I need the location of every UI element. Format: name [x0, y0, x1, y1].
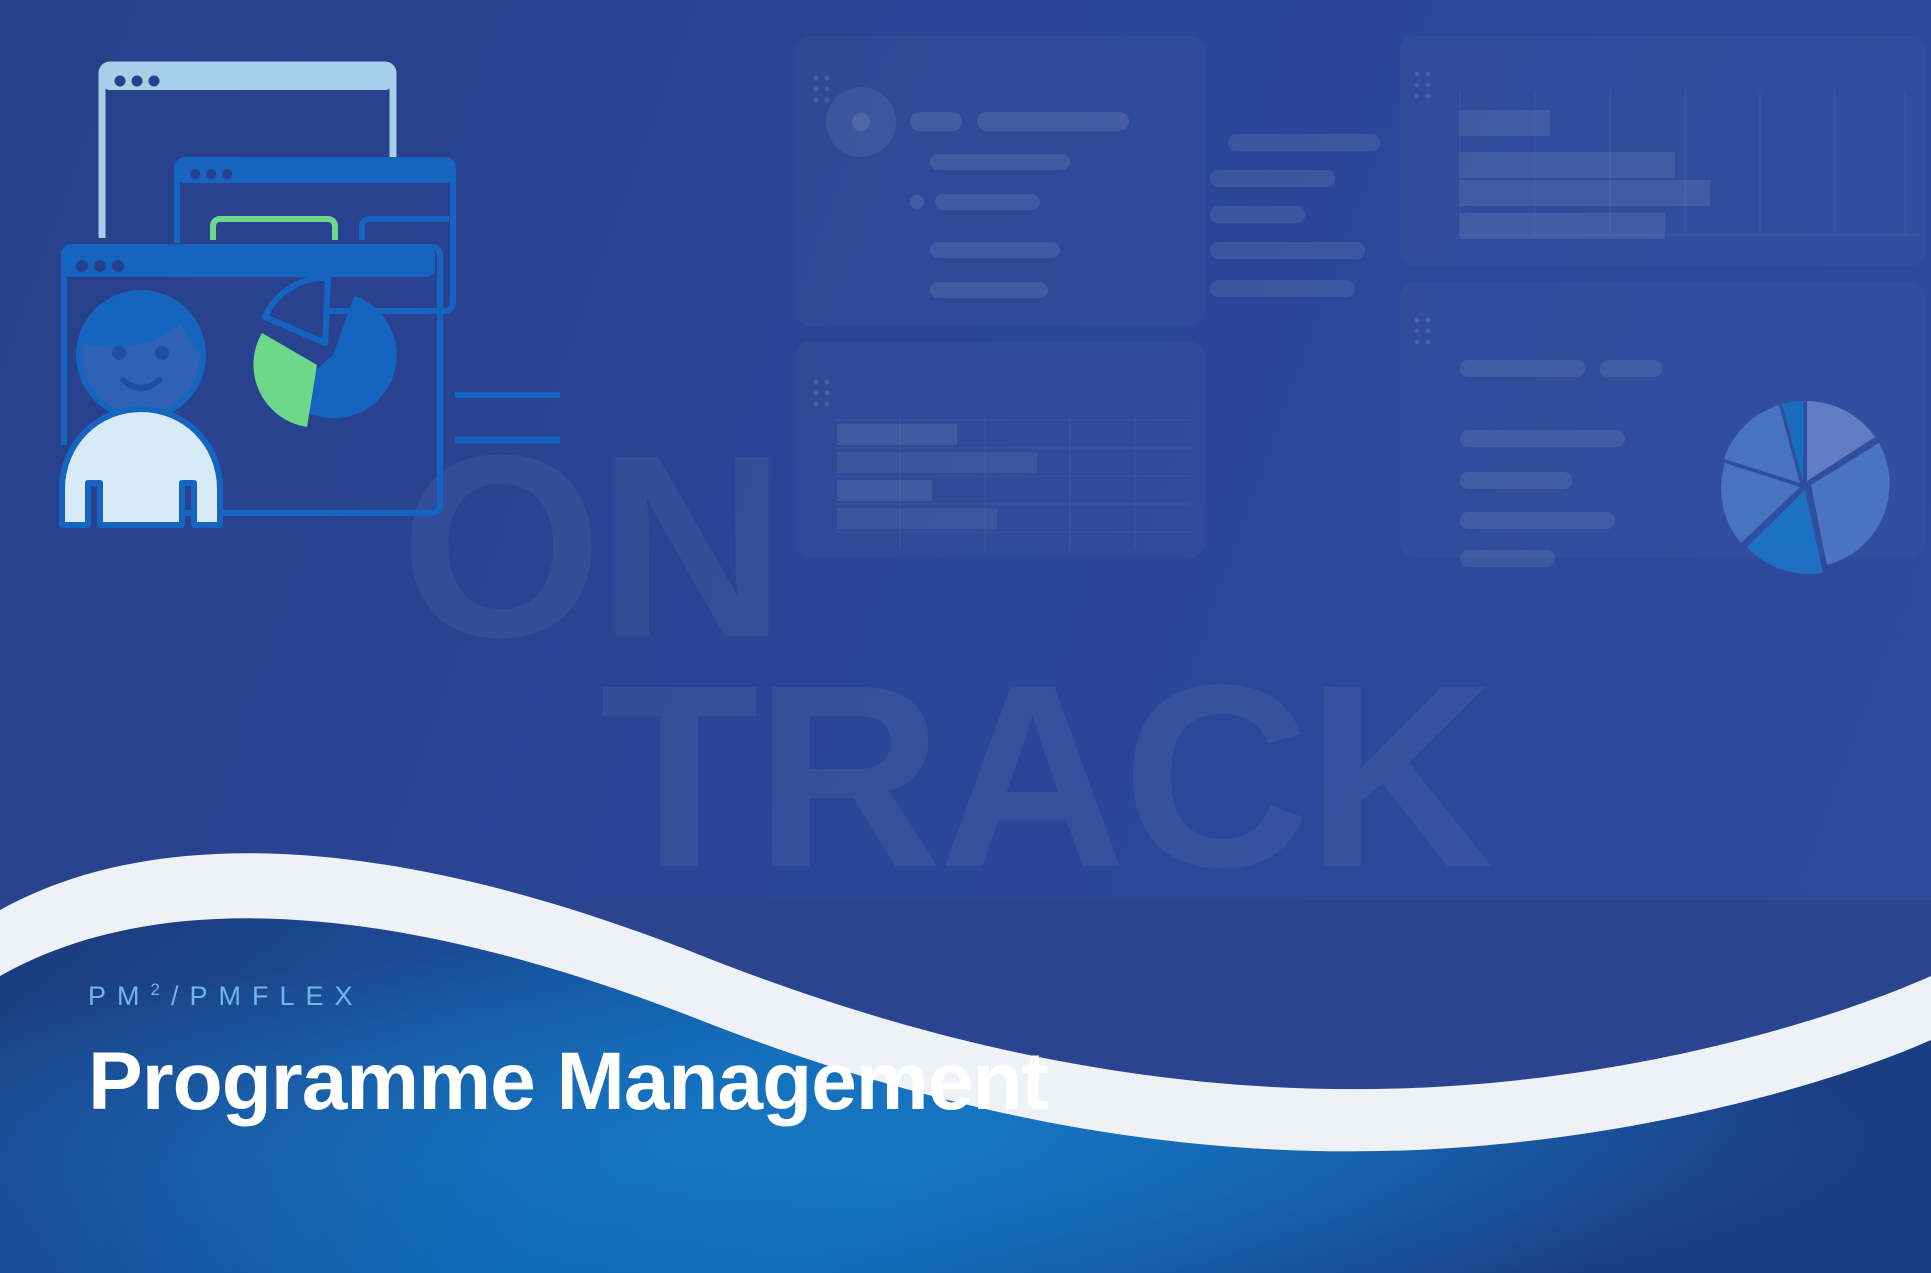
breadcrumb-eyebrow: PM2/PMFLEX [88, 980, 1048, 1012]
person-avatar [62, 293, 220, 525]
window-dot [112, 260, 124, 272]
shirt [62, 409, 220, 525]
window-dot [132, 76, 143, 87]
window-dot [190, 169, 200, 179]
table-card [795, 342, 1205, 557]
eyebrow-pmflex: PMFLEX [189, 981, 363, 1011]
middle-window [177, 157, 453, 311]
text-list-card [1210, 36, 1400, 326]
bar-chart-card [1400, 36, 1925, 266]
window-dot [206, 169, 216, 179]
page-title: Programme Management [88, 1036, 1048, 1128]
pie-chart-exploded [253, 278, 414, 436]
green-accent-bracket [213, 219, 335, 240]
title-block: PM2/PMFLEX Programme Management [88, 980, 1048, 1128]
bar [1460, 152, 1675, 178]
hero-illustration [40, 25, 560, 535]
bar [1460, 213, 1665, 239]
bar [1460, 180, 1710, 206]
eye-right [155, 346, 169, 360]
profile-card [795, 36, 1205, 326]
eyebrow-pm: PM [88, 981, 151, 1011]
pie-chart-card [1400, 282, 1925, 574]
eye-left [112, 346, 126, 360]
bar [1460, 110, 1550, 136]
window-dot [222, 169, 232, 179]
window-dot [149, 76, 160, 87]
window-dot [76, 260, 88, 272]
dashboard-illustration [780, 30, 1931, 560]
window-dot [115, 76, 126, 87]
back-window [102, 62, 393, 238]
eyebrow-separator: / [171, 981, 190, 1011]
eyebrow-superscript: 2 [151, 980, 171, 999]
window-dot [94, 260, 106, 272]
banner-root: ON TRACK [0, 0, 1931, 1273]
